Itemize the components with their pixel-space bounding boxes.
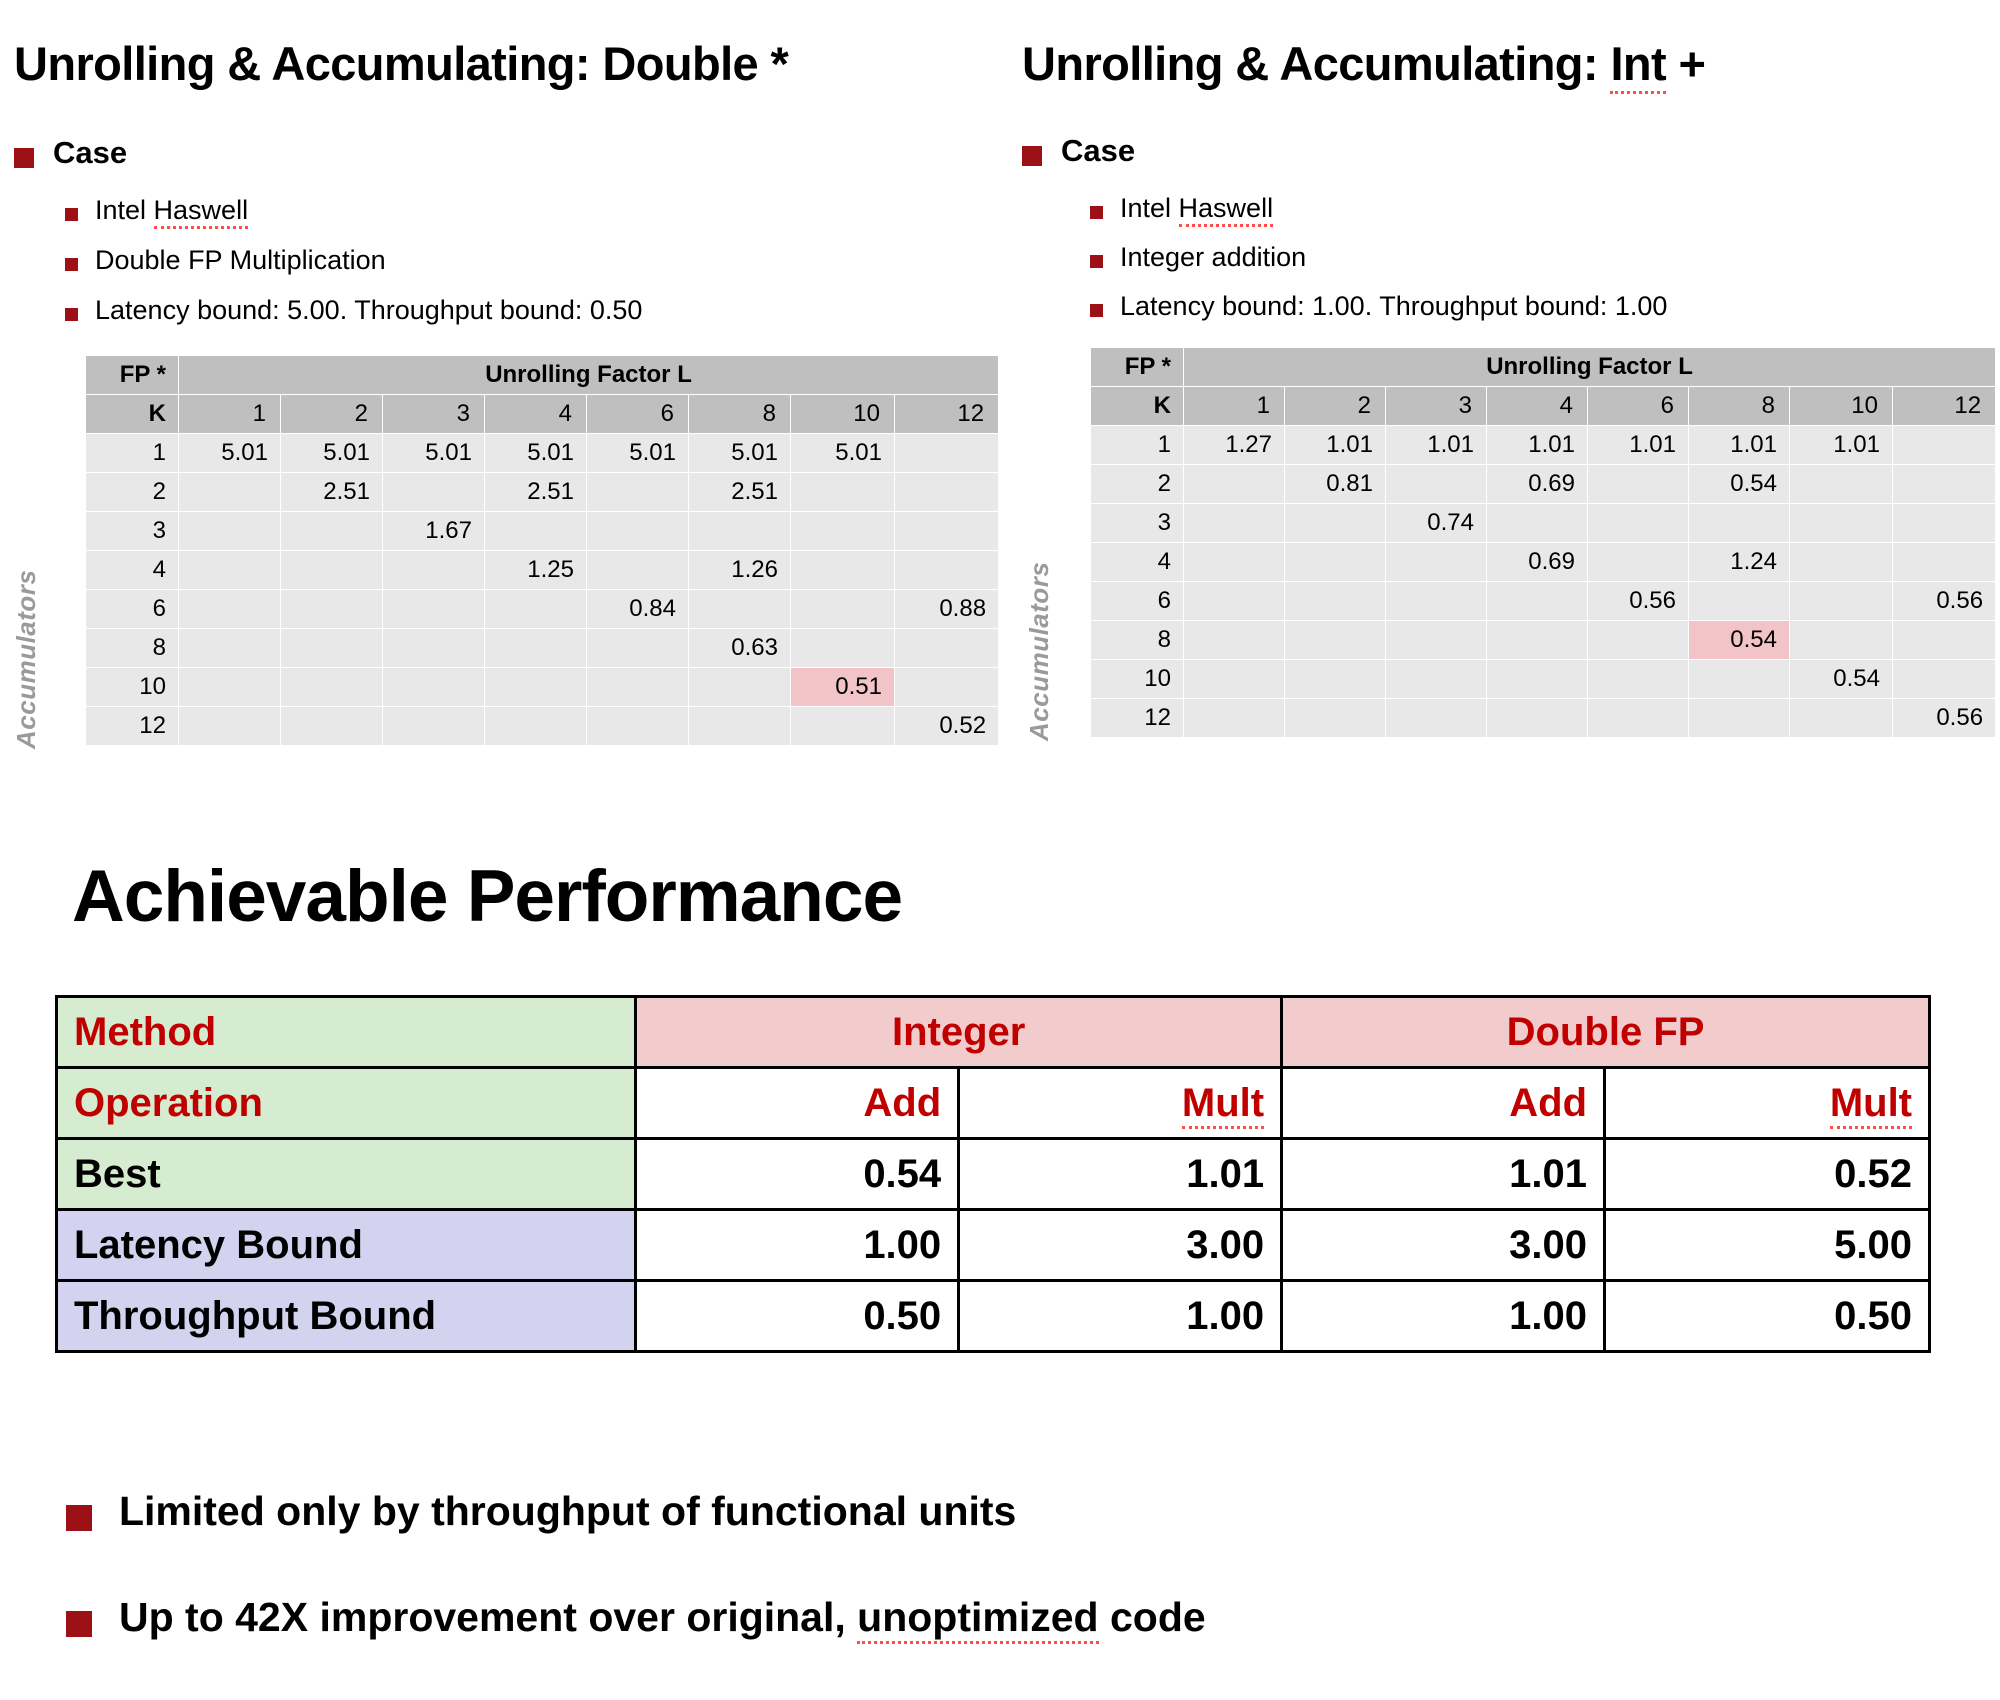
right-title-marked: Int — [1610, 37, 1666, 94]
unroll-cell-r5-c1 — [1285, 621, 1386, 660]
unroll-cell-r5-c5: 0.54 — [1689, 621, 1790, 660]
perf-row-best: Best 0.54 1.01 1.01 0.52 — [57, 1139, 1930, 1210]
unroll-cell-r2-c5 — [689, 512, 791, 551]
unroll-cell-r7-c3 — [1487, 699, 1588, 738]
unroll-column-header-6: 10 — [791, 395, 895, 434]
perf-latency-cell-3: 5.00 — [1605, 1210, 1930, 1281]
unroll-cell-r2-c0 — [1184, 504, 1285, 543]
unroll-cell-r0-c4: 1.01 — [1588, 426, 1689, 465]
summary-bullet-0: Limited only by throughput of functional… — [66, 1490, 1016, 1533]
unroll-column-header-1: 2 — [1285, 387, 1386, 426]
spellcheck-marked-word: Haswell — [1179, 193, 1274, 227]
unroll-cell-r3-c3: 1.25 — [485, 551, 587, 590]
unroll-cell-r4-c5 — [689, 590, 791, 629]
unroll-row-header-7: 12 — [86, 707, 179, 746]
table-row: 30.74 — [1091, 504, 1996, 543]
unroll-cell-r5-c5: 0.63 — [689, 629, 791, 668]
unroll-cell-r6-c4 — [587, 668, 689, 707]
left-case-bullet: Case — [14, 137, 127, 170]
unroll-cell-r3-c6 — [791, 551, 895, 590]
unroll-cell-r6-c7 — [1893, 660, 1996, 699]
unroll-cell-r4-c0 — [1184, 582, 1285, 621]
unroll-cell-r1-c6 — [1790, 465, 1893, 504]
table-row: 20.810.690.54 — [1091, 465, 1996, 504]
unroll-cell-r3-c5: 1.26 — [689, 551, 791, 590]
perf-operation-label: Operation — [57, 1068, 636, 1139]
unroll-cell-r6-c3 — [1487, 660, 1588, 699]
perf-operation-cell-3: Mult — [1605, 1068, 1930, 1139]
unroll-cell-r0-c7 — [1893, 426, 1996, 465]
unroll-cell-r6-c7 — [895, 668, 999, 707]
unroll-cell-r2-c4 — [587, 512, 689, 551]
table-row: 60.560.56 — [1091, 582, 1996, 621]
perf-throughput-cell-0: 0.50 — [636, 1281, 959, 1352]
unroll-cell-r5-c3 — [485, 629, 587, 668]
unroll-column-header-7: 12 — [895, 395, 999, 434]
left-slide-title: Unrolling & Accumulating: Double * — [14, 36, 788, 91]
bullet-square-icon — [1090, 255, 1103, 268]
unroll-cell-r7-c0 — [1184, 699, 1285, 738]
unroll-k-header: K — [1091, 387, 1184, 426]
unroll-cell-r2-c7 — [1893, 504, 1996, 543]
perf-double-header: Double FP — [1282, 997, 1930, 1068]
unroll-row-header-1: 2 — [86, 473, 179, 512]
perf-row-label-best: Best — [57, 1139, 636, 1210]
achievable-performance-table: Method Integer Double FP Operation Add M… — [55, 995, 1931, 1353]
bullet-square-icon — [65, 208, 78, 221]
unroll-cell-r3-c5: 1.24 — [1689, 543, 1790, 582]
unroll-cell-r6-c2 — [383, 668, 485, 707]
perf-best-cell-2: 1.01 — [1282, 1139, 1605, 1210]
unroll-cell-r3-c3: 0.69 — [1487, 543, 1588, 582]
spellcheck-marked-word: unoptimized — [857, 1594, 1098, 1644]
right-case-item-2: Latency bound: 1.00. Throughput bound: 1… — [1090, 292, 1667, 320]
unroll-cell-r5-c4 — [587, 629, 689, 668]
unroll-cell-r3-c1 — [1285, 543, 1386, 582]
perf-latency-cell-0: 1.00 — [636, 1210, 959, 1281]
perf-best-cell-0: 0.54 — [636, 1139, 959, 1210]
unroll-row-header-0: 1 — [86, 434, 179, 473]
unroll-cell-r1-c1: 2.51 — [281, 473, 383, 512]
table-row: 120.52 — [86, 707, 999, 746]
unroll-table-top-header-row: FP *Unrolling Factor L — [1091, 348, 1996, 387]
left-unrolling-table: FP *Unrolling Factor LK123468101215.015.… — [85, 355, 999, 746]
summary-bullet-0-label: Limited only by throughput of functional… — [119, 1490, 1016, 1533]
unroll-cell-r0-c5: 5.01 — [689, 434, 791, 473]
unroll-cell-r6-c4 — [1588, 660, 1689, 699]
perf-throughput-cell-2: 1.00 — [1282, 1281, 1605, 1352]
unroll-cell-r4-c0 — [179, 590, 281, 629]
unroll-cell-r7-c1 — [1285, 699, 1386, 738]
left-case-item-1: Double FP Multiplication — [65, 246, 386, 274]
right-case-item-1-label: Integer addition — [1120, 243, 1306, 271]
unroll-cell-r4-c6 — [1790, 582, 1893, 621]
unroll-cell-r4-c7: 0.56 — [1893, 582, 1996, 621]
unroll-cell-r5-c2 — [383, 629, 485, 668]
unroll-cell-r1-c6 — [791, 473, 895, 512]
unroll-cell-r2-c3 — [1487, 504, 1588, 543]
unroll-cell-r1-c2 — [1386, 465, 1487, 504]
unroll-cell-r1-c3: 0.69 — [1487, 465, 1588, 504]
left-case-item-2-label: Latency bound: 5.00. Throughput bound: 0… — [95, 296, 642, 324]
unroll-cell-r7-c7: 0.52 — [895, 707, 999, 746]
unroll-cell-r7-c5 — [1689, 699, 1790, 738]
unroll-cell-r3-c4 — [1588, 543, 1689, 582]
unroll-cell-r2-c6 — [1790, 504, 1893, 543]
unroll-cell-r7-c2 — [1386, 699, 1487, 738]
bullet-square-icon — [14, 148, 34, 168]
unroll-column-header-2: 3 — [1386, 387, 1487, 426]
perf-row-label-latency-bound: Latency Bound — [57, 1210, 636, 1281]
summary-bullet-1: Up to 42X improvement over original, uno… — [66, 1596, 1206, 1639]
right-title-prefix: Unrolling & Accumulating: — [1022, 37, 1610, 90]
right-case-bullet: Case — [1022, 135, 1135, 168]
unroll-cell-r4-c7: 0.88 — [895, 590, 999, 629]
unroll-cell-r6-c1 — [1285, 660, 1386, 699]
unroll-cell-r1-c1: 0.81 — [1285, 465, 1386, 504]
unroll-cell-r6-c5 — [689, 668, 791, 707]
unroll-cell-r6-c0 — [1184, 660, 1285, 699]
spellcheck-marked-word: Haswell — [154, 195, 249, 229]
unroll-column-header-2: 3 — [383, 395, 485, 434]
unroll-cell-r0-c0: 5.01 — [179, 434, 281, 473]
unroll-cell-r7-c1 — [281, 707, 383, 746]
unroll-span-header: Unrolling Factor L — [1184, 348, 1996, 387]
unroll-cell-r5-c7 — [895, 629, 999, 668]
unroll-cell-r4-c5 — [1689, 582, 1790, 621]
right-case-item-0-label: Intel Haswell — [1120, 194, 1273, 222]
unroll-cell-r7-c3 — [485, 707, 587, 746]
perf-row-throughput-bound: Throughput Bound 0.50 1.00 1.00 0.50 — [57, 1281, 1930, 1352]
unroll-cell-r5-c4 — [1588, 621, 1689, 660]
table-row: 100.51 — [86, 668, 999, 707]
unroll-cell-r2-c1 — [281, 512, 383, 551]
table-row: 41.251.26 — [86, 551, 999, 590]
unroll-cell-r4-c2 — [383, 590, 485, 629]
unroll-cell-r4-c3 — [1487, 582, 1588, 621]
unroll-cell-r0-c3: 5.01 — [485, 434, 587, 473]
unroll-cell-r6-c3 — [485, 668, 587, 707]
left-case-item-1-label: Double FP Multiplication — [95, 246, 386, 274]
perf-operation-cell-0: Add — [636, 1068, 959, 1139]
unroll-cell-r0-c3: 1.01 — [1487, 426, 1588, 465]
unroll-cell-r7-c7: 0.56 — [1893, 699, 1996, 738]
unroll-cell-r6-c0 — [179, 668, 281, 707]
unroll-column-header-3: 4 — [1487, 387, 1588, 426]
unroll-cell-r7-c2 — [383, 707, 485, 746]
unroll-table-top-header-row: FP *Unrolling Factor L — [86, 356, 999, 395]
perf-method-header: Method — [57, 997, 636, 1068]
unroll-cell-r6-c6: 0.54 — [1790, 660, 1893, 699]
unroll-column-header-5: 8 — [1689, 387, 1790, 426]
unroll-cell-r5-c0 — [1184, 621, 1285, 660]
unroll-cell-r4-c1 — [1285, 582, 1386, 621]
bullet-square-icon — [65, 258, 78, 271]
unroll-cell-r2-c1 — [1285, 504, 1386, 543]
unroll-cell-r2-c4 — [1588, 504, 1689, 543]
unroll-cell-r7-c4 — [587, 707, 689, 746]
unroll-cell-r2-c5 — [1689, 504, 1790, 543]
unroll-cell-r5-c0 — [179, 629, 281, 668]
table-row: 22.512.512.51 — [86, 473, 999, 512]
unroll-row-header-1: 2 — [1091, 465, 1184, 504]
unroll-cell-r1-c5: 2.51 — [689, 473, 791, 512]
unroll-column-header-0: 1 — [1184, 387, 1285, 426]
unroll-cell-r4-c4: 0.84 — [587, 590, 689, 629]
unroll-cell-r5-c2 — [1386, 621, 1487, 660]
unroll-cell-r2-c2: 0.74 — [1386, 504, 1487, 543]
unroll-cell-r1-c7 — [1893, 465, 1996, 504]
perf-latency-cell-2: 3.00 — [1282, 1210, 1605, 1281]
unroll-column-header-1: 2 — [281, 395, 383, 434]
unroll-cell-r3-c7 — [1893, 543, 1996, 582]
bullet-square-icon — [66, 1505, 92, 1531]
unroll-row-header-2: 3 — [1091, 504, 1184, 543]
unroll-cell-r3-c2 — [383, 551, 485, 590]
unroll-row-header-5: 8 — [86, 629, 179, 668]
unroll-cell-r7-c0 — [179, 707, 281, 746]
unroll-column-header-4: 6 — [1588, 387, 1689, 426]
right-unrolling-table: FP *Unrolling Factor LK123468101211.271.… — [1090, 347, 1996, 738]
unroll-cell-r4-c6 — [791, 590, 895, 629]
perf-throughput-cell-1: 1.00 — [959, 1281, 1282, 1352]
unroll-span-header: Unrolling Factor L — [179, 356, 999, 395]
table-row: 31.67 — [86, 512, 999, 551]
left-case-item-0-label: Intel Haswell — [95, 195, 248, 229]
unroll-cell-r2-c2: 1.67 — [383, 512, 485, 551]
unroll-cell-r1-c0 — [179, 473, 281, 512]
unroll-cell-r0-c5: 1.01 — [1689, 426, 1790, 465]
perf-operation-cell-2: Add — [1282, 1068, 1605, 1139]
unroll-k-header: K — [86, 395, 179, 434]
unroll-cell-r3-c1 — [281, 551, 383, 590]
unroll-row-header-4: 6 — [1091, 582, 1184, 621]
unroll-column-header-4: 6 — [587, 395, 689, 434]
unroll-cell-r3-c2 — [1386, 543, 1487, 582]
unroll-cell-r0-c2: 5.01 — [383, 434, 485, 473]
unroll-corner-label: FP * — [1091, 348, 1184, 387]
unroll-cell-r2-c3 — [485, 512, 587, 551]
table-row: 40.691.24 — [1091, 543, 1996, 582]
unroll-cell-r0-c1: 1.01 — [1285, 426, 1386, 465]
unroll-row-header-6: 10 — [86, 668, 179, 707]
unroll-cell-r2-c7 — [895, 512, 999, 551]
unroll-cell-r5-c6 — [1790, 621, 1893, 660]
right-case-item-2-label: Latency bound: 1.00. Throughput bound: 1… — [1120, 292, 1667, 320]
right-case-item-0: Intel Haswell — [1090, 194, 1273, 222]
unroll-cell-r1-c4 — [587, 473, 689, 512]
unroll-column-header-6: 10 — [1790, 387, 1893, 426]
perf-operation-row: Operation Add Mult Add Mult — [57, 1068, 1930, 1139]
unroll-cell-r1-c5: 0.54 — [1689, 465, 1790, 504]
unroll-cell-r5-c6 — [791, 629, 895, 668]
unroll-cell-r0-c7 — [895, 434, 999, 473]
unroll-cell-r5-c3 — [1487, 621, 1588, 660]
unroll-cell-r6-c5 — [1689, 660, 1790, 699]
unroll-cell-r4-c4: 0.56 — [1588, 582, 1689, 621]
table-row: 120.56 — [1091, 699, 1996, 738]
unroll-column-header-0: 1 — [179, 395, 281, 434]
unroll-column-header-3: 4 — [485, 395, 587, 434]
table-row: 15.015.015.015.015.015.015.01 — [86, 434, 999, 473]
unroll-cell-r0-c0: 1.27 — [1184, 426, 1285, 465]
table-row: 60.840.88 — [86, 590, 999, 629]
unroll-cell-r7-c5 — [689, 707, 791, 746]
left-case-item-2: Latency bound: 5.00. Throughput bound: 0… — [65, 296, 642, 324]
unroll-cell-r1-c2 — [383, 473, 485, 512]
unroll-cell-r3-c6 — [1790, 543, 1893, 582]
unroll-cell-r4-c3 — [485, 590, 587, 629]
unroll-row-header-3: 4 — [86, 551, 179, 590]
unroll-cell-r3-c4 — [587, 551, 689, 590]
perf-row-latency-bound: Latency Bound 1.00 3.00 3.00 5.00 — [57, 1210, 1930, 1281]
table-row: 11.271.011.011.011.011.011.01 — [1091, 426, 1996, 465]
unroll-cell-r0-c4: 5.01 — [587, 434, 689, 473]
unroll-cell-r6-c1 — [281, 668, 383, 707]
unroll-row-header-5: 8 — [1091, 621, 1184, 660]
perf-integer-header: Integer — [636, 997, 1282, 1068]
right-case-item-1: Integer addition — [1090, 243, 1306, 271]
unroll-cell-r0-c1: 5.01 — [281, 434, 383, 473]
unroll-cell-r1-c0 — [1184, 465, 1285, 504]
unroll-column-header-5: 8 — [689, 395, 791, 434]
unroll-table-column-header-row: K1234681012 — [1091, 387, 1996, 426]
bullet-square-icon — [66, 1611, 92, 1637]
unroll-cell-r1-c7 — [895, 473, 999, 512]
perf-throughput-cell-3: 0.50 — [1605, 1281, 1930, 1352]
unroll-column-header-7: 12 — [1893, 387, 1996, 426]
right-accumulators-axis-label: Accumulators — [1024, 562, 1055, 741]
achievable-performance-heading: Achievable Performance — [72, 855, 902, 938]
bullet-square-icon — [65, 308, 78, 321]
unroll-cell-r7-c4 — [1588, 699, 1689, 738]
unroll-cell-r2-c6 — [791, 512, 895, 551]
unroll-row-header-0: 1 — [1091, 426, 1184, 465]
bullet-square-icon — [1022, 146, 1042, 166]
unroll-cell-r5-c7 — [1893, 621, 1996, 660]
bullet-square-icon — [1090, 206, 1103, 219]
unroll-cell-r7-c6 — [791, 707, 895, 746]
unroll-cell-r0-c6: 5.01 — [791, 434, 895, 473]
unroll-table-column-header-row: K1234681012 — [86, 395, 999, 434]
unroll-cell-r4-c1 — [281, 590, 383, 629]
unroll-cell-r0-c6: 1.01 — [1790, 426, 1893, 465]
unroll-row-header-3: 4 — [1091, 543, 1184, 582]
unroll-cell-r0-c2: 1.01 — [1386, 426, 1487, 465]
perf-best-cell-1: 1.01 — [959, 1139, 1282, 1210]
unroll-cell-r2-c0 — [179, 512, 281, 551]
unroll-row-header-7: 12 — [1091, 699, 1184, 738]
left-case-item-0: Intel Haswell — [65, 196, 248, 224]
perf-latency-cell-1: 3.00 — [959, 1210, 1282, 1281]
perf-best-cell-3: 0.52 — [1605, 1139, 1930, 1210]
perf-operation-cell-1: Mult — [959, 1068, 1282, 1139]
unroll-cell-r1-c4 — [1588, 465, 1689, 504]
unroll-cell-r5-c1 — [281, 629, 383, 668]
unroll-cell-r3-c0 — [1184, 543, 1285, 582]
unroll-cell-r3-c0 — [179, 551, 281, 590]
unroll-cell-r3-c7 — [895, 551, 999, 590]
perf-header-row: Method Integer Double FP — [57, 997, 1930, 1068]
table-row: 100.54 — [1091, 660, 1996, 699]
right-title-suffix: + — [1666, 37, 1705, 90]
perf-row-label-throughput-bound: Throughput Bound — [57, 1281, 636, 1352]
unroll-cell-r1-c3: 2.51 — [485, 473, 587, 512]
left-accumulators-axis-label: Accumulators — [11, 570, 42, 749]
unroll-cell-r4-c2 — [1386, 582, 1487, 621]
perf-operation-cell-1-label: Mult — [1182, 1081, 1264, 1129]
unroll-row-header-2: 3 — [86, 512, 179, 551]
unroll-row-header-4: 6 — [86, 590, 179, 629]
unroll-cell-r6-c6: 0.51 — [791, 668, 895, 707]
unroll-row-header-6: 10 — [1091, 660, 1184, 699]
unroll-corner-label: FP * — [86, 356, 179, 395]
summary-bullet-1-label: Up to 42X improvement over original, uno… — [119, 1596, 1206, 1639]
unroll-cell-r7-c6 — [1790, 699, 1893, 738]
unroll-cell-r6-c2 — [1386, 660, 1487, 699]
bullet-square-icon — [1090, 304, 1103, 317]
table-row: 80.63 — [86, 629, 999, 668]
right-slide-title: Unrolling & Accumulating: Int + — [1022, 36, 1705, 91]
perf-operation-cell-3-label: Mult — [1830, 1081, 1912, 1129]
table-row: 80.54 — [1091, 621, 1996, 660]
